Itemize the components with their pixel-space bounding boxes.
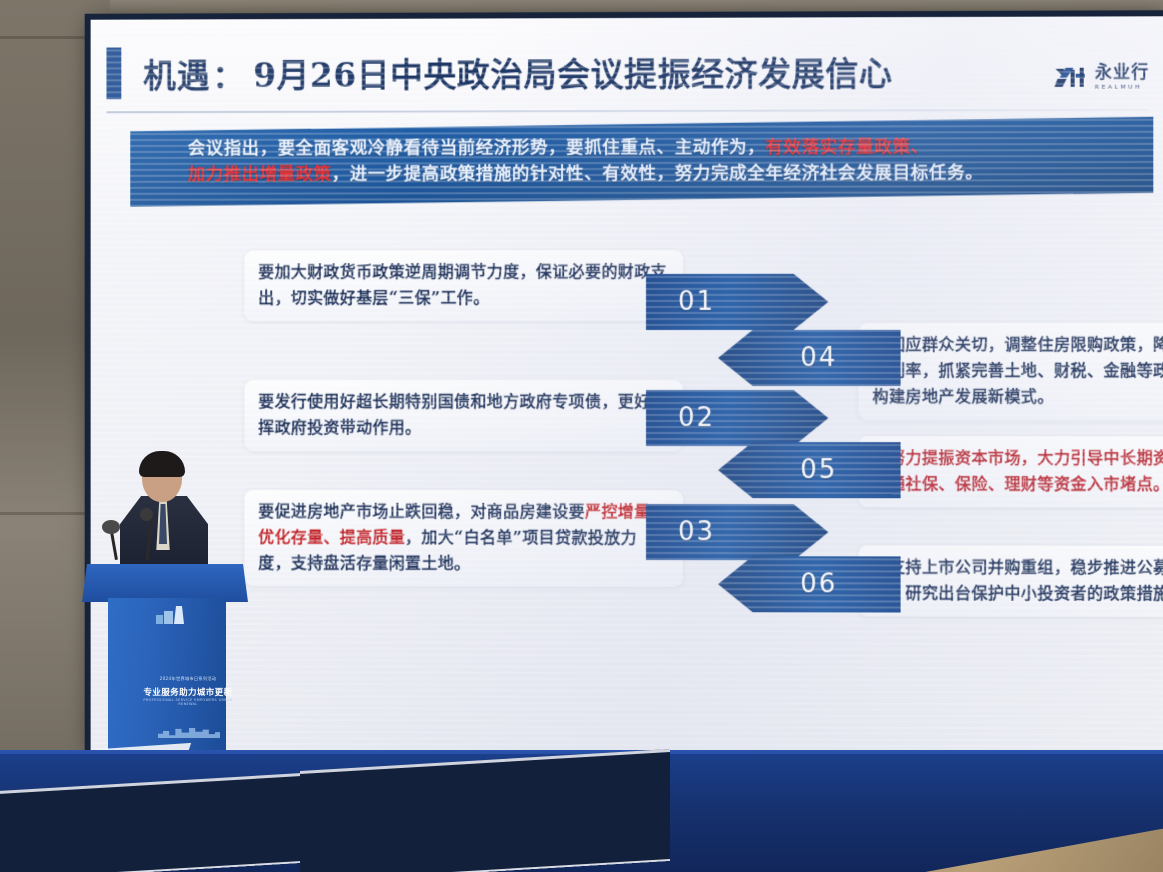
point-text-04: 要回应群众关切，调整住房限购政策，降低存量房贷利率，抓紧完善土地、财税、金融等政… — [872, 332, 1163, 410]
banner-line-2-text: ，进一步提高政策措施的针对性、有效性，努力完成全年经济社会发展目标任务。 — [332, 163, 984, 184]
lectern-english-title: PROFESSIONAL SERVICE EMPOWERS URBAN RENE… — [138, 698, 238, 706]
heading-divider — [106, 109, 1147, 113]
point-text-02: 要发行使用好超长期特别国债和地方政府专项债，更好发挥政府投资带动作用。 — [258, 389, 669, 441]
lectern-main-title: 专业服务助力城市更新 — [134, 686, 242, 698]
chevron-number-03: 03 — [678, 517, 715, 547]
led-screen: 机遇 ： 9月26日中央政治局会议提振经济发展信心 — [91, 16, 1163, 755]
microphone-head-icon — [140, 508, 153, 521]
point-text-05: 要努力提振资本市场，大力引导中长期资金入市，打通社保、保险、理财等资金入市堵点。 — [872, 445, 1163, 497]
banner-line-2: 加力推出增量政策，进一步提高政策措施的针对性、有效性，努力完成全年经济社会发展目… — [188, 160, 1127, 188]
chair-back-left — [0, 772, 310, 872]
lectern: 2024年世界城市日系列活动 专业服务助力城市更新 PROFESSIONAL S… — [86, 564, 244, 760]
speaker-hair — [139, 451, 185, 477]
point-text-01: 要加大财政货币政策逆周期调节力度，保证必要的财政支出，切实做好基层“三保”工作。 — [258, 259, 669, 311]
point-panel-03: 要促进房地产市场止跌回稳，对商品房建设要严控增量、优化存量、提高质量，加大“白名… — [244, 490, 683, 587]
city-skyline-icon — [150, 604, 196, 626]
heading-colon: ： — [213, 51, 244, 96]
chevron-marker-01: 01 — [646, 274, 828, 330]
logo-chinese-name: 永业行 — [1095, 65, 1149, 82]
heading-keyword: 机遇 — [143, 49, 210, 97]
presentation-slide: 机遇 ： 9月26日中央政治局会议提振经济发展信心 — [91, 16, 1163, 755]
chevron-marker-03: 03 — [646, 504, 828, 560]
yeh-logo-mark-icon — [1053, 65, 1087, 91]
heading-accent-bar — [106, 47, 121, 99]
point-panel-05: 要努力提振资本市场，大力引导中长期资金入市，打通社保、保险、理财等资金入市堵点。 — [858, 436, 1163, 507]
banner-line-1-text: 会议指出，要全面客观冷静看待当前经济形势，要抓住重点、主动作为， — [188, 137, 766, 158]
point-panel-02: 要发行使用好超长期特别国债和地方政府专项债，更好发挥政府投资带动作用。 — [244, 380, 683, 451]
lectern-skyline-graphic — [158, 724, 220, 738]
chevron-marker-05: 05 — [718, 442, 901, 498]
chevron-number-04: 04 — [800, 343, 837, 373]
chair-back-right — [300, 749, 670, 872]
second-microphone-head-icon — [102, 520, 120, 534]
point-text-03-a: 要促进房地产市场止跌回稳，对商品房建设要 — [258, 502, 585, 521]
lectern-subtitle: 2024年世界城市日系列活动 — [138, 676, 238, 682]
point-panel-04: 要回应群众关切，调整住房限购政策，降低存量房贷利率，抓紧完善土地、财税、金融等政… — [858, 323, 1163, 420]
meeting-statement-banner: 会议指出，要全面客观冷静看待当前经济形势，要抓住重点、主动作为，有效落实存量政策… — [130, 117, 1153, 207]
point-panel-06: 要支持上市公司并购重组，稳步推进公募基金改革，研究出台保护中小投资者的政策措施。 — [858, 545, 1163, 617]
logo-english-name: REALMUH — [1095, 85, 1149, 91]
banner-line-2-highlight: 加力推出增量政策 — [188, 165, 332, 185]
point-text-03: 要促进房地产市场止跌回稳，对商品房建设要严控增量、优化存量、提高质量，加大“白名… — [258, 499, 669, 577]
chevron-marker-04: 04 — [718, 330, 901, 386]
chevron-marker-02: 02 — [646, 390, 828, 446]
chevron-number-02: 02 — [678, 403, 715, 433]
point-panel-01: 要加大财政货币政策逆周期调节力度，保证必要的财政支出，切实做好基层“三保”工作。 — [244, 250, 683, 321]
logo-text-block: 永业行 REALMUH — [1095, 65, 1149, 91]
lectern-front-panel: 2024年世界城市日系列活动 专业服务助力城市更新 PROFESSIONAL S… — [108, 598, 226, 760]
banner-line-1: 会议指出，要全面客观冷静看待当前经济形势，要抓住重点、主动作为，有效落实存量政策… — [188, 134, 1127, 162]
chevron-number-01: 01 — [678, 287, 715, 317]
heading-title: 9月26日中央政治局会议提振经济发展信心 — [253, 47, 892, 97]
conference-photo: 机遇 ： 9月26日中央政治局会议提振经济发展信心 — [0, 0, 1163, 872]
chevron-marker-06: 06 — [718, 556, 901, 612]
slide-heading: 机遇 ： 9月26日中央政治局会议提振经济发展信心 — [106, 34, 1145, 109]
chevron-number-05: 05 — [800, 455, 837, 485]
lectern-top — [82, 564, 248, 602]
speaker-person — [118, 454, 210, 572]
company-logo: 永业行 REALMUH — [1053, 65, 1149, 91]
chevron-number-06: 06 — [800, 569, 837, 599]
point-text-06: 要支持上市公司并购重组，稳步推进公募基金改革，研究出台保护中小投资者的政策措施。 — [872, 554, 1163, 607]
banner-line-1-highlight: 有效落实存量政策、 — [765, 137, 929, 157]
